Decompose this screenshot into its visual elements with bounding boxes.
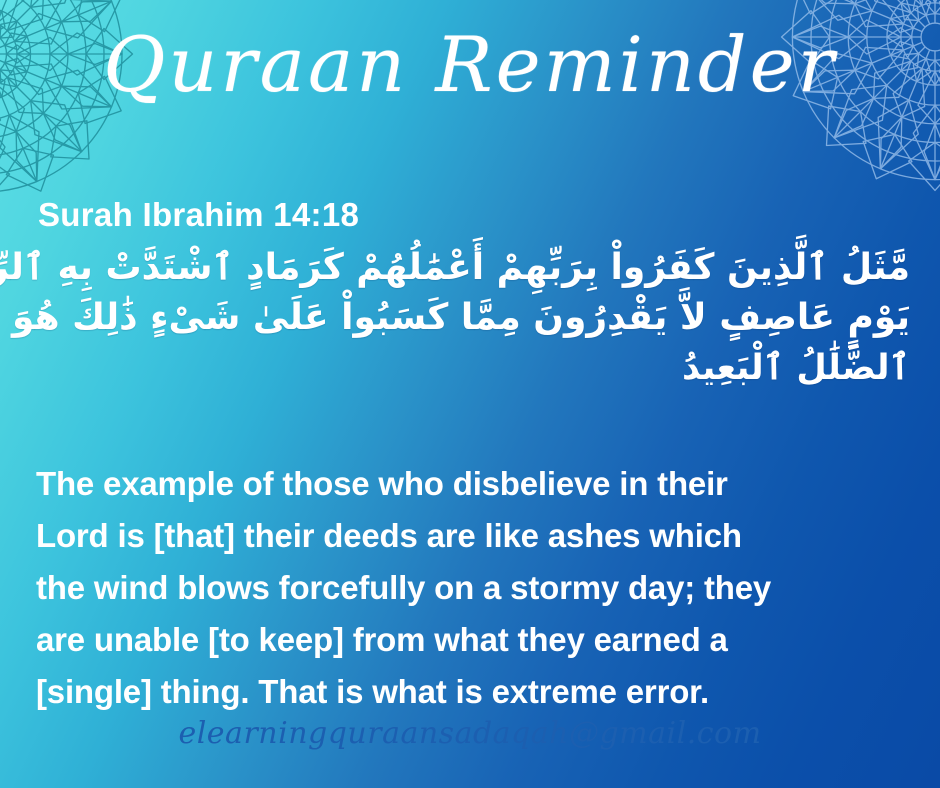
page-title: Quraan Reminder — [0, 22, 940, 107]
translation-line: Lord is [that] their deeds are like ashe… — [36, 510, 920, 562]
arabic-line: مَّثَلُ ٱلَّذِينَ كَفَرُواْ بِرَبِّهِمْ … — [30, 243, 910, 293]
quran-reminder-poster: Quraan Reminder Surah Ibrahim 14:18 مَّث… — [0, 0, 940, 788]
arabic-line: ٱلضَّلَٰلُ ٱلْبَعِيدُ — [30, 343, 910, 393]
title-container: Quraan Reminder — [0, 22, 940, 107]
translation-line: [single] thing. That is what is extreme … — [36, 666, 920, 718]
arabic-line: يَوْمٍ عَاصِفٍ لاَّ يَقْدِرُونَ مِمَّا ك… — [30, 293, 910, 343]
translation-line: are unable [to keep] from what they earn… — [36, 614, 920, 666]
translation-text: The example of those who disbelieve in t… — [36, 458, 920, 718]
surah-reference: Surah Ibrahim 14:18 — [38, 196, 359, 234]
contact-email: elearningquraansadaqah@gmail.com — [0, 716, 940, 751]
translation-line: the wind blows forcefully on a stormy da… — [36, 562, 920, 614]
translation-line: The example of those who disbelieve in t… — [36, 458, 920, 510]
arabic-verse: مَّثَلُ ٱلَّذِينَ كَفَرُواْ بِرَبِّهِمْ … — [30, 243, 910, 393]
